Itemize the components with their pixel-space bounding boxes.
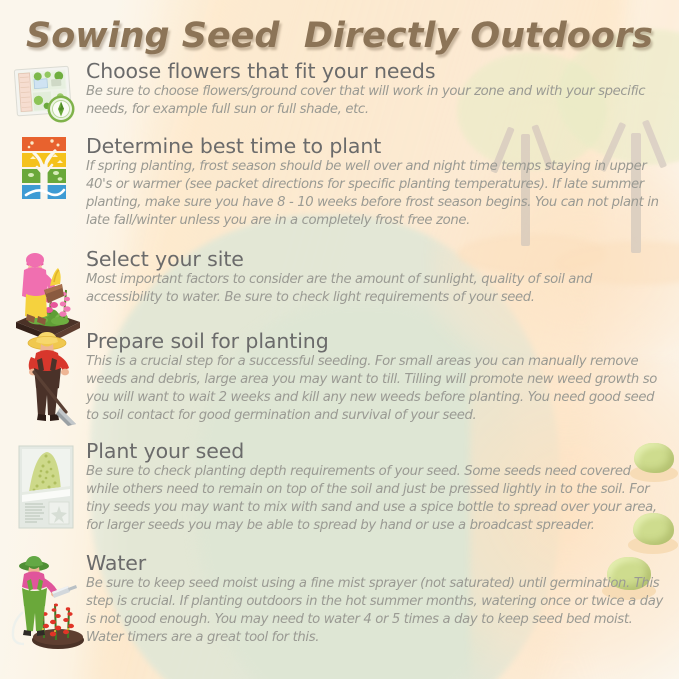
section-text: Water Be sure to keep seed moist using a… <box>82 552 673 647</box>
section-body: If spring planting, frost season should … <box>86 158 666 230</box>
section-prepare-soil: Prepare soil for planting This is a cruc… <box>8 330 673 425</box>
section-heading: Plant your seed <box>86 440 673 462</box>
section-body: Most important factors to consider are t… <box>86 271 666 307</box>
section-body: This is a crucial step for a successful … <box>86 353 666 425</box>
section-heading: Water <box>86 552 673 574</box>
section-list: Choose flowers that fit your needs Be su… <box>0 0 679 679</box>
garden-plan-compass-icon <box>8 60 82 134</box>
section-text: Prepare soil for planting This is a cruc… <box>82 330 673 425</box>
section-body: Be sure to check planting depth requirem… <box>86 463 666 535</box>
section-select-site: Select your site Most important factors … <box>8 248 673 340</box>
seed-packet-icon <box>8 440 82 532</box>
four-seasons-icon <box>8 135 82 209</box>
section-body: Be sure to keep seed moist using a fine … <box>86 575 666 647</box>
section-text: Select your site Most important factors … <box>82 248 673 307</box>
section-determine-time: Determine best time to plant If spring p… <box>8 135 673 230</box>
section-text: Choose flowers that fit your needs Be su… <box>82 60 673 119</box>
section-heading: Choose flowers that fit your needs <box>86 60 673 82</box>
section-text: Determine best time to plant If spring p… <box>82 135 673 230</box>
section-choose-flowers: Choose flowers that fit your needs Be su… <box>8 60 673 134</box>
section-plant-seed: Plant your seed Be sure to check plantin… <box>8 440 673 535</box>
section-heading: Prepare soil for planting <box>86 330 673 352</box>
infographic-poster: Sowing Seed Directly Outdoors <box>0 0 679 679</box>
gardener-with-shovel-icon <box>8 330 82 422</box>
section-water: Water Be sure to keep seed moist using a… <box>8 552 673 647</box>
gardener-watering-icon <box>8 552 82 644</box>
section-text: Plant your seed Be sure to check plantin… <box>82 440 673 535</box>
section-heading: Determine best time to plant <box>86 135 673 157</box>
section-body: Be sure to choose flowers/ground cover t… <box>86 83 666 119</box>
section-heading: Select your site <box>86 248 673 270</box>
gardener-planting-flowers-icon <box>8 248 82 340</box>
